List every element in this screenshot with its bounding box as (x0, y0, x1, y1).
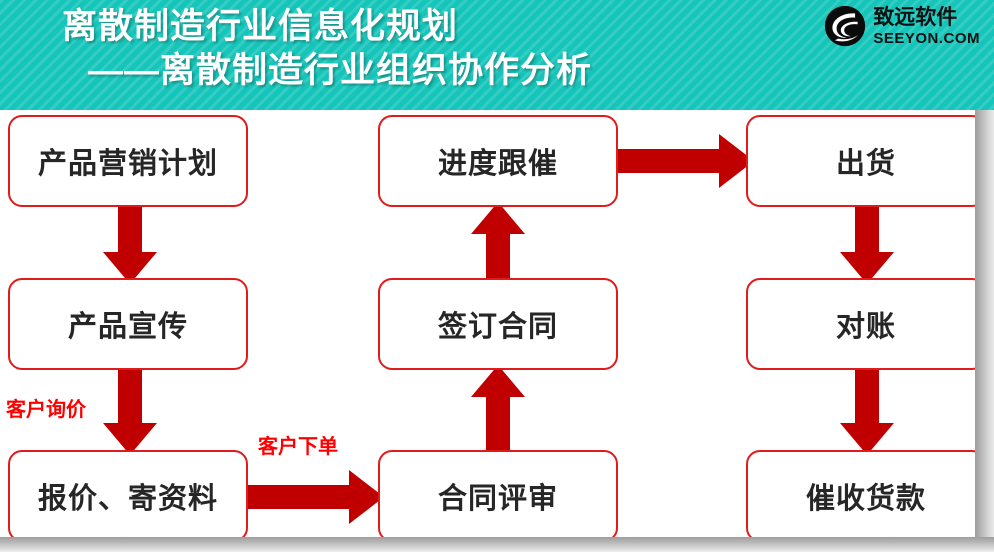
node-label: 出货 (836, 140, 896, 182)
node-label: 对账 (836, 303, 896, 345)
node-label: 产品宣传 (68, 303, 188, 345)
logo-company-name-en: SEEYON.COM (873, 31, 980, 46)
node-product-promotion[interactable]: 产品宣传 (8, 278, 248, 370)
logo-wordmark: 致远软件 SEEYON.COM (873, 7, 980, 46)
slide-title-line-2: ——离散制造行业组织协作分析 (0, 49, 800, 93)
node-quote-send-materials[interactable]: 报价、寄资料 (8, 450, 248, 542)
node-collect-payment[interactable]: 催收货款 (746, 450, 986, 542)
slide-header-banner: 离散制造行业信息化规划 ——离散制造行业组织协作分析 致远软件 SEEYON.C… (0, 0, 994, 110)
node-product-marketing-plan[interactable]: 产品营销计划 (8, 115, 248, 207)
node-label: 催收货款 (806, 475, 926, 517)
connector-label-customer-order: 客户下单 (258, 430, 338, 459)
arrow-reconciliation-to-collect-payment (840, 365, 894, 455)
slide-canvas: 离散制造行业信息化规划 ——离散制造行业组织协作分析 致远软件 SEEYON.C… (0, 0, 994, 552)
process-flow-diagram: 客户询价 客户下单 产品营销计划 产品宣传 报价、寄资料 进度跟催 签订合同 合… (0, 110, 994, 552)
arrow-quote-to-contract-review (244, 470, 384, 524)
node-shipment[interactable]: 出货 (746, 115, 986, 207)
node-progress-follow-up[interactable]: 进度跟催 (378, 115, 618, 207)
node-label: 产品营销计划 (38, 140, 218, 182)
node-label: 进度跟催 (438, 140, 558, 182)
arrow-progress-to-shipment (614, 134, 754, 188)
slide-title: 离散制造行业信息化规划 ——离散制造行业组织协作分析 (0, 5, 800, 93)
company-logo: 致远软件 SEEYON.COM (824, 5, 980, 47)
node-contract-review[interactable]: 合同评审 (378, 450, 618, 542)
node-label: 签订合同 (438, 303, 558, 345)
arrow-shipment-to-reconciliation (840, 202, 894, 284)
arrow-review-to-sign-contract (471, 365, 525, 455)
arrow-sign-to-progress-follow-up (471, 202, 525, 284)
seeyon-swirl-logo-icon (824, 5, 866, 47)
node-reconciliation[interactable]: 对账 (746, 278, 986, 370)
node-label: 报价、寄资料 (38, 475, 218, 517)
node-label: 合同评审 (438, 475, 558, 517)
connector-label-customer-inquiry: 客户询价 (6, 393, 86, 422)
right-edge-scrollbar[interactable] (975, 110, 994, 537)
arrow-plan-to-promotion (103, 202, 157, 284)
logo-company-name-cn: 致远软件 (873, 7, 980, 28)
arrow-promotion-to-quote (103, 365, 157, 455)
node-sign-contract[interactable]: 签订合同 (378, 278, 618, 370)
bottom-edge-bar (0, 537, 994, 552)
slide-title-line-1: 离散制造行业信息化规划 (0, 5, 800, 49)
